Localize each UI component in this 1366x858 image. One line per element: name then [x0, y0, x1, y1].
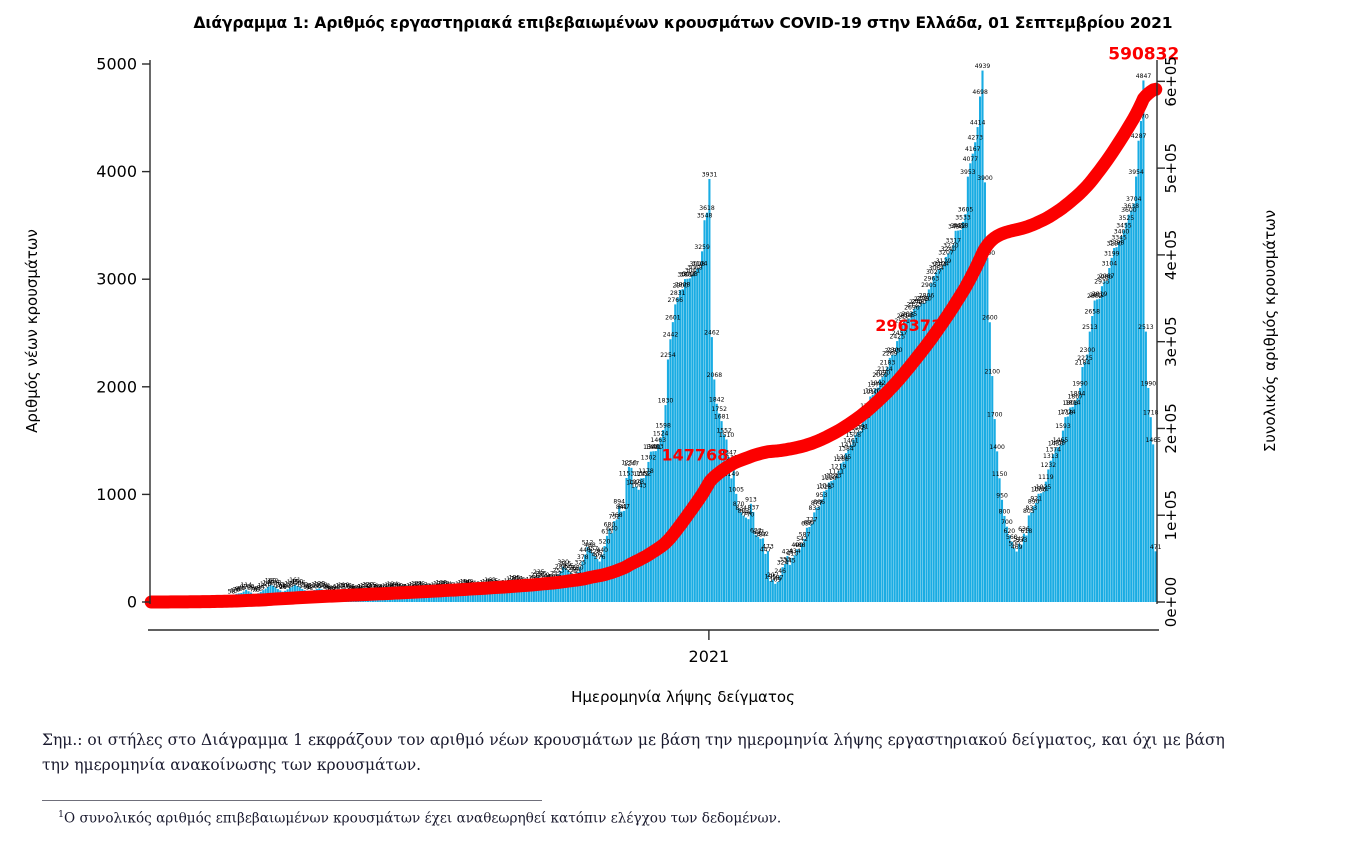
bar-value-label: 3638 — [1124, 203, 1140, 210]
bar — [1016, 552, 1018, 602]
bar-value-label: 471 — [1150, 544, 1162, 551]
bar — [1094, 301, 1096, 603]
bar-value-label: 3129 — [936, 258, 952, 265]
bar-value-label: 1681 — [714, 414, 730, 421]
bar — [1084, 363, 1086, 602]
bar — [877, 388, 879, 602]
bar — [1135, 177, 1137, 602]
bar-value-label: 3931 — [702, 172, 718, 179]
bar-value-label: 3458 — [953, 222, 969, 229]
bar-value-label: 1990 — [1141, 380, 1157, 387]
x-axis-title: Ημερομηνία λήψης δείγματος — [0, 688, 1366, 706]
bar — [769, 581, 771, 602]
bar — [633, 487, 635, 602]
bar — [701, 251, 703, 602]
bar-value-label: 1465 — [1053, 437, 1069, 444]
bar — [1013, 548, 1015, 602]
bar — [828, 483, 830, 602]
bar-value-label: 768 — [611, 512, 623, 519]
bar-value-label: 2300 — [1080, 347, 1096, 354]
bar-value-label: 2462 — [704, 330, 720, 337]
bar — [706, 213, 708, 602]
bar — [1074, 401, 1076, 602]
bar — [1081, 367, 1083, 602]
bar — [852, 440, 854, 602]
bar — [1103, 281, 1105, 602]
bar — [867, 410, 869, 602]
bar — [638, 490, 640, 602]
bar — [733, 462, 735, 602]
bar — [981, 71, 983, 602]
bar-value-label: 4698 — [972, 89, 988, 96]
bar-value-label: 3953 — [960, 169, 976, 176]
bar — [1018, 544, 1020, 602]
bar — [1035, 503, 1037, 602]
bar-value-label: 1992 — [870, 380, 886, 387]
bar-value-label: 1302 — [641, 454, 657, 461]
bar-value-label: 587 — [799, 531, 811, 538]
bar-value-label: 1463 — [650, 437, 666, 444]
bar-value-label: 3525 — [1119, 215, 1135, 222]
bar-value-label: 4167 — [965, 146, 981, 153]
bar-value-label: 2100 — [985, 369, 1001, 376]
bar-value-label: 2963 — [924, 276, 940, 283]
bar — [967, 177, 969, 602]
bar — [774, 584, 776, 602]
bar-value-label: 837 — [748, 504, 760, 511]
bar-value-label: 886 — [813, 499, 825, 506]
bar — [1123, 230, 1125, 602]
bar-value-label: 1830 — [658, 398, 674, 405]
bar — [884, 373, 886, 602]
bar-value-label: 3618 — [699, 205, 715, 212]
y-left-tick-label: 1000 — [96, 485, 137, 504]
bar-value-label: 953 — [816, 492, 828, 499]
bar — [1142, 80, 1144, 602]
bar — [864, 417, 866, 602]
bar-value-label: 727 — [806, 516, 818, 523]
y-right-tick-label: 6e+05 — [1162, 56, 1180, 106]
y-left-tick-label: 0 — [127, 593, 137, 612]
bar — [833, 480, 835, 602]
bar-value-label: 3954 — [1128, 169, 1144, 176]
footnote-text: Ο συνολικός αριθμός επιβεβαιωμένων κρουσ… — [64, 811, 781, 827]
bar — [855, 435, 857, 602]
bar — [823, 491, 825, 602]
bar-value-label: 1313 — [1043, 453, 1059, 460]
bar-value-label: 440 — [596, 547, 608, 554]
bar — [730, 478, 732, 602]
bar — [1113, 248, 1115, 602]
y-left-tick-label: 4000 — [96, 162, 137, 181]
bar-value-label: 833 — [1025, 505, 1037, 512]
bar — [655, 451, 657, 602]
bar-value-label: 4287 — [1131, 133, 1147, 140]
bar — [1057, 447, 1059, 602]
chart-page: Διάγραμμα 1: Αριθμός εργαστηριακά επιβεβ… — [0, 0, 1366, 858]
bar-value-label: 1524 — [653, 431, 669, 438]
bar — [821, 499, 823, 602]
bar — [845, 453, 847, 602]
bar-value-label: 378 — [577, 554, 589, 561]
bar-value-label: 950 — [996, 492, 1008, 499]
bar-value-label: 2225 — [1077, 355, 1093, 362]
bar — [1055, 448, 1057, 602]
bar — [955, 231, 957, 602]
bar — [1128, 215, 1130, 602]
bar-value-label: 4273 — [967, 135, 983, 142]
bar-value-label: 3533 — [955, 214, 971, 221]
bar-value-label: 1700 — [987, 412, 1003, 419]
bar — [752, 512, 754, 602]
bar — [1038, 494, 1040, 602]
bar-value-label: 640 — [606, 526, 618, 533]
bar — [818, 507, 820, 602]
bar — [1118, 242, 1120, 602]
bar-value-label: 1025 — [1036, 484, 1052, 491]
bar — [1045, 482, 1047, 602]
bar-value-label: 1247 — [624, 460, 640, 467]
bar — [1040, 493, 1042, 602]
bar — [857, 432, 859, 602]
cumulative-annotation: 147768 — [662, 446, 729, 465]
bar-value-label: 1374 — [1045, 447, 1061, 454]
bar — [669, 339, 671, 602]
bar — [623, 511, 625, 602]
bar-value-label: 4414 — [970, 120, 986, 127]
bar — [1108, 268, 1110, 602]
bar — [789, 565, 791, 602]
bar — [1062, 431, 1064, 602]
bar-value-label: 4077 — [963, 156, 979, 163]
bar-value-label: 847 — [618, 503, 630, 510]
y-right-tick-label: 2e+05 — [1162, 403, 1180, 453]
bar-value-label: 1400 — [989, 444, 1005, 451]
bar — [1059, 444, 1061, 602]
bar — [1033, 506, 1035, 602]
bar — [838, 471, 840, 602]
y-left-tick-label: 3000 — [96, 270, 137, 289]
bar-value-label: 1894 — [1070, 391, 1086, 398]
y-right-tick-label: 1e+05 — [1162, 490, 1180, 540]
bar-value-label: 2068 — [707, 372, 723, 379]
bar-value-label: 2905 — [921, 282, 937, 289]
bar-value-label: 2513 — [1082, 324, 1098, 331]
bar-value-label: 3605 — [958, 207, 974, 214]
bar — [879, 379, 881, 602]
bar — [977, 127, 979, 602]
bar — [1125, 223, 1127, 602]
bar-value-label: 3104 — [1102, 261, 1118, 268]
bar — [1030, 512, 1032, 602]
bar-value-label: 2831 — [670, 290, 686, 297]
bar-value-label: 770 — [743, 512, 755, 519]
bar-value-label: 187 — [772, 574, 784, 581]
bar — [738, 508, 740, 602]
bar-value-label: 2658 — [1085, 309, 1101, 316]
bar-value-label: 618 — [1021, 528, 1033, 535]
bar-value-label: 1150 — [992, 471, 1008, 478]
bar — [1086, 355, 1088, 602]
bar — [777, 582, 779, 602]
y-right-tick-label: 4e+05 — [1162, 230, 1180, 280]
bar-value-label: 1598 — [655, 423, 671, 430]
bar — [745, 518, 747, 602]
bar-value-label: 1119 — [1038, 474, 1054, 481]
bar-value-label: 1752 — [711, 406, 727, 413]
bar — [628, 467, 630, 602]
bar — [1130, 211, 1132, 602]
bar — [791, 558, 793, 602]
bar-value-label: 3548 — [697, 213, 713, 220]
bar — [667, 359, 669, 602]
bar — [691, 275, 693, 602]
y-left-tick-label: 5000 — [96, 55, 137, 74]
bar-value-label: 1219 — [831, 463, 847, 470]
bar-value-label: 473 — [762, 544, 774, 551]
bar-value-label: 913 — [745, 496, 757, 503]
bar-value-label: 2442 — [663, 332, 679, 339]
bar-value-label: 1842 — [709, 396, 725, 403]
bar — [1106, 281, 1108, 602]
bar-value-label: 1005 — [729, 486, 745, 493]
bar — [835, 476, 837, 602]
bar-value-label: 533 — [1016, 537, 1028, 544]
bar-value-label: 1465 — [1145, 437, 1161, 444]
bar — [728, 457, 730, 602]
bar-value-label: 2124 — [877, 366, 893, 373]
bar — [1025, 536, 1027, 603]
bar — [708, 179, 710, 602]
bar-value-label: 2908 — [675, 282, 691, 289]
bar — [1150, 417, 1152, 602]
bar — [1133, 203, 1135, 602]
bar-value-label: 345 — [784, 557, 796, 564]
bar — [647, 462, 649, 602]
bar-value-label: 4847 — [1136, 73, 1152, 80]
bar-value-label: 3455 — [1116, 223, 1132, 230]
bar — [1020, 545, 1022, 602]
bar — [972, 154, 974, 602]
bar — [643, 478, 645, 602]
bar-value-label: 1990 — [1072, 380, 1088, 387]
bar — [1089, 332, 1091, 602]
bar-value-label: 2819 — [1092, 291, 1108, 298]
bar-value-label: 2600 — [982, 315, 998, 322]
bar — [703, 220, 705, 602]
bar-value-label: 3104 — [692, 261, 708, 268]
bar — [1111, 258, 1113, 602]
bar-value-label: 1043 — [631, 482, 647, 489]
bar-value-label: 1178 — [638, 468, 654, 475]
bar — [689, 278, 691, 602]
bar — [862, 420, 864, 602]
bar — [872, 395, 874, 602]
bar-value-label: 246 — [774, 568, 786, 575]
bar-value-label: 1510 — [719, 432, 735, 439]
bar — [1145, 332, 1147, 602]
bar — [850, 445, 852, 602]
bar-value-label: 3900 — [977, 175, 993, 182]
y-axis-right-title: Συνολικός αριθμός κρουσμάτων — [1261, 181, 1279, 481]
y-left-tick-label: 2000 — [96, 377, 137, 396]
bar-value-label: 4939 — [975, 63, 991, 70]
bar-value-label: 1593 — [1055, 423, 1071, 430]
bar — [830, 481, 832, 602]
y-right-tick-label: 0e+00 — [1162, 577, 1180, 627]
bar-value-label: 3199 — [1104, 250, 1120, 257]
bar — [840, 463, 842, 602]
bar — [801, 544, 803, 602]
bar — [645, 475, 647, 602]
bar-value-label: 2806 — [919, 293, 935, 300]
y-right-tick-label: 3e+05 — [1162, 316, 1180, 366]
bar-value-label: 3259 — [694, 244, 710, 251]
bar — [1120, 236, 1122, 602]
bar-value-label: 800 — [999, 508, 1011, 515]
page-title: Διάγραμμα 1: Αριθμός εργαστηριακά επιβεβ… — [0, 14, 1366, 32]
bar — [696, 269, 698, 602]
bar-value-label: 376 — [594, 554, 606, 561]
bar — [886, 367, 888, 602]
bar — [811, 524, 813, 602]
bar — [1152, 444, 1154, 602]
bar — [694, 272, 696, 602]
bar — [684, 279, 686, 602]
bar — [874, 389, 876, 602]
bar — [613, 521, 615, 602]
bar — [842, 462, 844, 602]
bar-value-label: 2601 — [665, 315, 681, 322]
bar — [718, 413, 720, 602]
bar — [743, 516, 745, 602]
bar — [699, 268, 701, 602]
bar — [991, 376, 993, 602]
bar-value-label: 2987 — [1099, 273, 1115, 280]
chart-note: Σημ.: οι στήλες στο Διάγραμμα 1 εκφράζου… — [42, 728, 1232, 778]
footnote-divider — [42, 800, 542, 801]
bar-value-label: 3317 — [946, 238, 962, 245]
chart-plot: 5863768084971141008876708295110125140160… — [0, 44, 1366, 704]
bar — [1050, 461, 1052, 602]
bar-value-label: 1232 — [1041, 462, 1057, 469]
bar-value-label: 1153 — [619, 470, 635, 477]
bar-value-label: 700 — [1001, 519, 1013, 526]
bar — [1101, 286, 1103, 602]
bar — [1069, 407, 1071, 602]
cumulative-annotation: 296371 — [875, 316, 942, 335]
bar-value-label: 1305 — [836, 454, 852, 461]
bar-value-label: 2300 — [887, 347, 903, 354]
bar — [1116, 247, 1118, 602]
bar — [881, 377, 883, 602]
bar — [1147, 388, 1149, 602]
bar-value-label: 520 — [599, 539, 611, 546]
bar — [740, 512, 742, 602]
bar-value-label: 2513 — [1138, 324, 1154, 331]
bar — [860, 431, 862, 602]
bar — [635, 487, 637, 602]
x-tick-label: 2021 — [689, 647, 730, 666]
bar — [847, 449, 849, 602]
bar — [1140, 121, 1142, 602]
bar — [755, 535, 757, 602]
bar-value-label: 1724 — [1060, 409, 1076, 416]
bar — [825, 490, 827, 602]
bar-value-label: 592 — [757, 531, 769, 538]
bar — [1042, 492, 1044, 602]
bar — [1098, 299, 1100, 602]
bar-value-label: 921 — [1030, 495, 1042, 502]
bar — [1067, 417, 1069, 603]
bar — [799, 549, 801, 602]
y-axis-left-title: Αριθμός νέων κρουσμάτων — [23, 181, 41, 481]
bar — [640, 478, 642, 602]
bar — [1079, 388, 1081, 602]
bar — [1096, 299, 1098, 602]
bar — [974, 142, 976, 602]
footnote: 1Ο συνολικός αριθμός επιβεβαιωμένων κρου… — [58, 808, 1238, 829]
bar — [979, 97, 981, 603]
bar — [686, 279, 688, 602]
bar — [1077, 398, 1079, 602]
bar — [869, 396, 871, 602]
bar-value-label: 2766 — [668, 297, 684, 304]
y-right-tick-label: 5e+05 — [1162, 143, 1180, 193]
bar — [657, 445, 659, 602]
bar-value-label: 469 — [1011, 544, 1023, 551]
bar — [621, 512, 623, 602]
bar-value-label: 2254 — [660, 352, 676, 359]
bar — [969, 163, 971, 602]
bar — [1072, 407, 1074, 602]
bar — [625, 478, 627, 602]
bar-value-label: 3704 — [1126, 196, 1142, 203]
bar — [986, 258, 988, 602]
bar-value-label: 2183 — [880, 360, 896, 367]
bar — [989, 322, 991, 602]
bar-value-label: 1043 — [819, 482, 835, 489]
figure: 5863768084971141008876708295110125140160… — [0, 44, 1366, 704]
